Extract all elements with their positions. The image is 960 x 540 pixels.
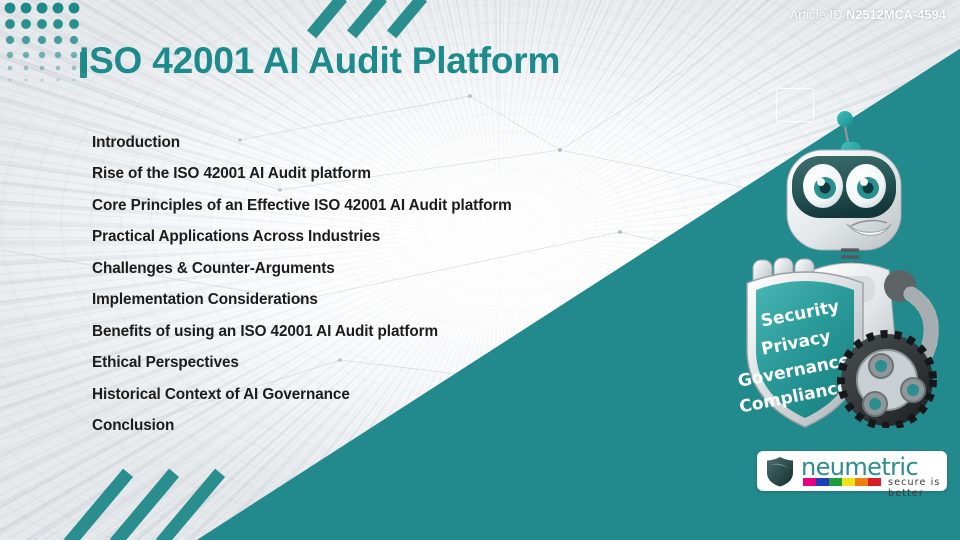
shield-icon bbox=[766, 456, 794, 487]
logo-tagline: secure is better bbox=[888, 477, 947, 499]
article-id-code: N2512MCA-4594 bbox=[846, 8, 946, 22]
toc-item[interactable]: Challenges & Counter-Arguments bbox=[92, 261, 612, 276]
neumetric-logo[interactable]: neumetric secure is better bbox=[757, 451, 947, 491]
logo-color-bar bbox=[803, 478, 881, 486]
toc-item[interactable]: Implementation Considerations bbox=[92, 292, 612, 307]
robot-mascot: Security Privacy Governance Compliance bbox=[735, 108, 960, 428]
toc-item[interactable]: Core Principles of an Effective ISO 4200… bbox=[92, 198, 612, 213]
toc-item[interactable]: Benefits of using an ISO 42001 AI Audit … bbox=[92, 324, 612, 339]
article-id-label: Article ID bbox=[790, 8, 843, 22]
article-id: Article ID N2512MCA-4594 bbox=[790, 8, 946, 22]
table-of-contents: Introduction Rise of the ISO 42001 AI Au… bbox=[92, 135, 612, 450]
toc-item[interactable]: Practical Applications Across Industries bbox=[92, 229, 612, 244]
toc-item[interactable]: Conclusion bbox=[92, 418, 612, 433]
slide-canvas: Article ID N2512MCA-4594 ISO 42001 AI Au… bbox=[0, 0, 960, 540]
top-slashes-decoration bbox=[325, 0, 445, 38]
bottom-slashes-decoration bbox=[100, 458, 240, 540]
robot-neck bbox=[841, 250, 859, 264]
toc-item[interactable]: Rise of the ISO 42001 AI Audit platform bbox=[92, 166, 612, 181]
antenna-bulb bbox=[837, 111, 853, 127]
dot-grid-decoration bbox=[4, 2, 90, 86]
robot-wheel bbox=[841, 334, 933, 426]
toc-item[interactable]: Introduction bbox=[92, 135, 612, 150]
toc-item[interactable]: Ethical Perspectives bbox=[92, 355, 612, 370]
page-title: ISO 42001 AI Audit Platform bbox=[79, 41, 560, 82]
toc-item[interactable]: Historical Context of AI Governance bbox=[92, 387, 612, 402]
